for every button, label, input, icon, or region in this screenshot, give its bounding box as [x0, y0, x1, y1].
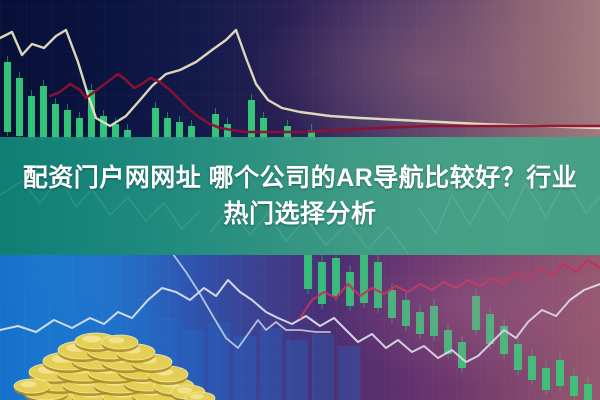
title-line-2: 热门选择分析	[223, 197, 376, 231]
top-chart-panel	[0, 0, 600, 140]
gold-coin-pile	[10, 330, 220, 400]
top-chart-svg	[0, 0, 600, 140]
title-line-1: 配资门户网网址 哪个公司的AR导航比较好？行业	[23, 161, 578, 195]
banner-image: 配资门户网网址 哪个公司的AR导航比较好？行业 热门选择分析	[0, 0, 600, 400]
title-text-block: 配资门户网网址 哪个公司的AR导航比较好？行业 热门选择分析	[0, 137, 600, 255]
